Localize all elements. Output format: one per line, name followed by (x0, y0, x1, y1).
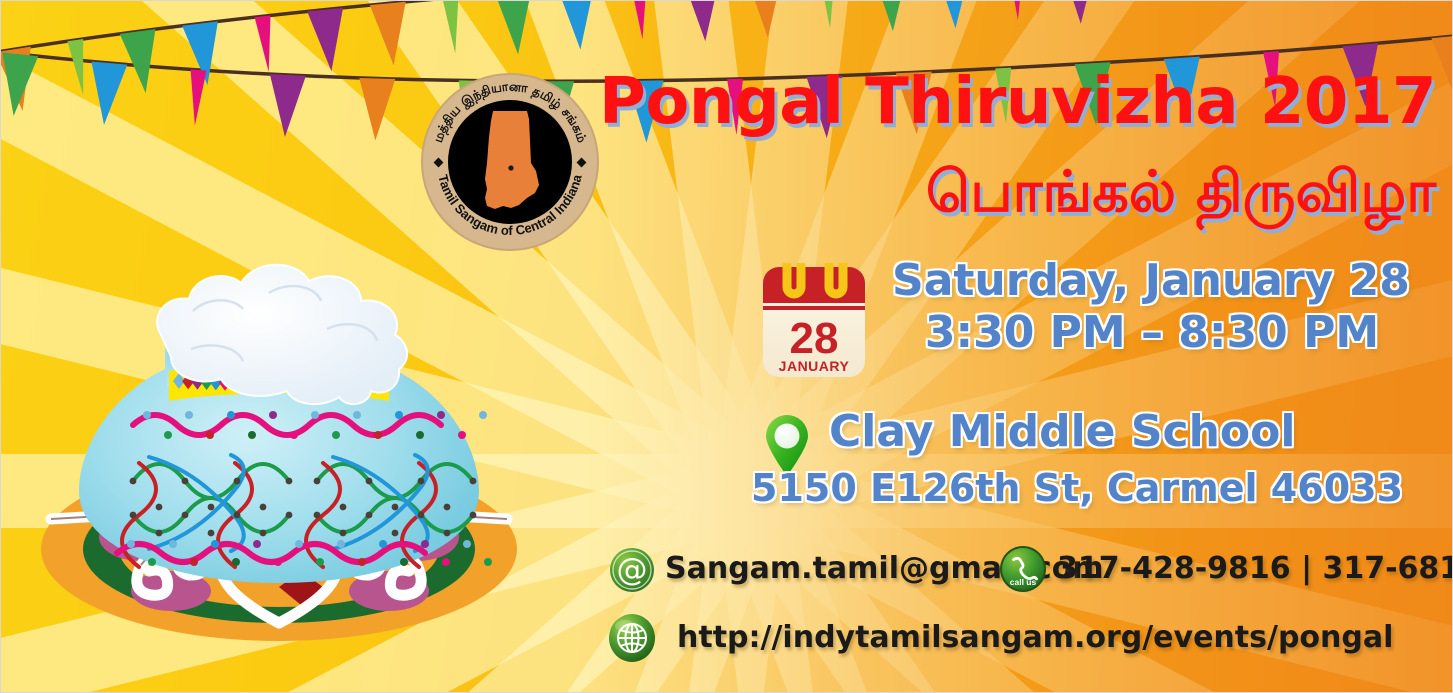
at-sign-icon: @ (609, 547, 655, 593)
kolam-dot (418, 478, 425, 485)
kolam-dot (392, 530, 399, 537)
kolam-dot (470, 512, 477, 519)
bunting-flag (370, 2, 412, 67)
bunting-flag (442, 1, 463, 54)
decor-dot (353, 411, 361, 419)
decor-dot (148, 558, 156, 566)
kolam-dot (182, 512, 189, 519)
decor-dot (274, 558, 282, 566)
bunting-flag (120, 29, 164, 95)
event-location-block: Clay Middle School 5150 E126th St, Carme… (759, 409, 1453, 519)
decor-dot (316, 558, 324, 566)
decor-dot (290, 431, 298, 439)
event-title-tamil: பொங்கல் திருவிழா (591, 159, 1436, 233)
decor-dot (232, 558, 240, 566)
decor-dot (484, 558, 492, 566)
event-datetime-block: 28 JANUARY Saturday, January 28 3:30 PM … (759, 259, 1453, 394)
kolam-dot (182, 478, 189, 485)
globe-icon (607, 613, 657, 663)
kolam-dot (156, 504, 163, 511)
contact-website[interactable]: http://indytamilsangam.org/events/pongal (677, 615, 1393, 661)
venue-address: 5150 E126th St, Carmel 46033 (751, 465, 1403, 511)
kolam-dot (392, 504, 399, 511)
pongal-pot-illustration (21, 219, 581, 649)
pongal-event-banner: மத்திய இந்தியானா தமிழ் சங்கம் Tamil Sang… (0, 0, 1453, 693)
calendar-day: 28 (790, 314, 839, 363)
bunting-flag (495, 1, 536, 56)
decor-dot (127, 540, 135, 548)
event-date: Saturday, January 28 (892, 255, 1453, 307)
decor-dot (311, 411, 319, 419)
kolam-dot (340, 504, 347, 511)
decor-dot (458, 431, 466, 439)
bunting-flag (187, 69, 207, 126)
decor-dot (437, 411, 445, 419)
contact-block: @ Sangam.tamil@gmail.com (591, 541, 1453, 691)
kolam-dot (234, 478, 241, 485)
bunting-flag (267, 74, 306, 138)
calendar-icon: 28 JANUARY (759, 263, 869, 381)
kolam-dot (366, 478, 373, 485)
kolam-dot (418, 512, 425, 519)
svg-text:@: @ (617, 552, 648, 588)
bunting-flag (307, 8, 349, 73)
decor-dot (379, 540, 387, 548)
event-title-english: Pongal Thiruvizha 2017 (591, 65, 1436, 139)
kolam-dot (234, 512, 241, 519)
bunting-flag (67, 39, 91, 97)
kolam-dot (156, 530, 163, 537)
decor-dot (395, 411, 403, 419)
kolam-dot (444, 530, 451, 537)
kolam-dot (444, 504, 451, 511)
contact-phones[interactable]: 317-428-9816 | 317-681-4196 (1057, 547, 1453, 591)
decor-dot (185, 411, 193, 419)
decor-dot (416, 431, 424, 439)
decor-dot (164, 431, 172, 439)
decor-dot (442, 558, 450, 566)
kolam-dot (260, 504, 267, 511)
decor-dot (169, 540, 177, 548)
event-time: 3:30 PM – 8:30 PM (892, 307, 1412, 359)
event-datetime-text: Saturday, January 28 3:30 PM – 8:30 PM (892, 255, 1453, 359)
kolam-dot (130, 512, 137, 519)
kolam-dot (208, 530, 215, 537)
bunting-flag (86, 62, 127, 127)
decor-dot (337, 540, 345, 548)
decor-dot (227, 411, 235, 419)
phone-call-us-icon: call us (999, 545, 1047, 593)
kolam-dot (470, 478, 477, 485)
bunting-flag (357, 78, 395, 141)
event-details-column: Pongal Thiruvizha 2017 பொங்கல் திருவிழா (591, 1, 1453, 693)
decor-dot (269, 411, 277, 419)
venue-name: Clay Middle School (829, 405, 1295, 459)
decor-dot (479, 411, 487, 419)
decor-dot (400, 558, 408, 566)
bunting-flag (1, 52, 38, 118)
decor-dot (374, 431, 382, 439)
kolam-dot (314, 512, 321, 519)
decor-dot (295, 540, 303, 548)
kolam-dot (208, 504, 215, 511)
phone-icon-label: call us (1010, 577, 1037, 587)
kolam-dot (366, 512, 373, 519)
decor-dot (253, 540, 261, 548)
calendar-month: JANUARY (779, 358, 850, 374)
pongal-pot (79, 265, 492, 583)
bunting-flag (255, 15, 277, 72)
kolam-dot (286, 478, 293, 485)
kolam-dot (286, 512, 293, 519)
kolam-dot (260, 530, 267, 537)
decor-dot (143, 411, 151, 419)
decor-dot (358, 558, 366, 566)
decor-dot (421, 540, 429, 548)
kolam-dot (314, 478, 321, 485)
decor-dot (248, 431, 256, 439)
decor-dot (463, 540, 471, 548)
kolam-dot (340, 530, 347, 537)
decor-dot (190, 558, 198, 566)
decor-dot (206, 431, 214, 439)
decor-dot (332, 431, 340, 439)
kolam-dot (130, 478, 137, 485)
decor-dot (211, 540, 219, 548)
